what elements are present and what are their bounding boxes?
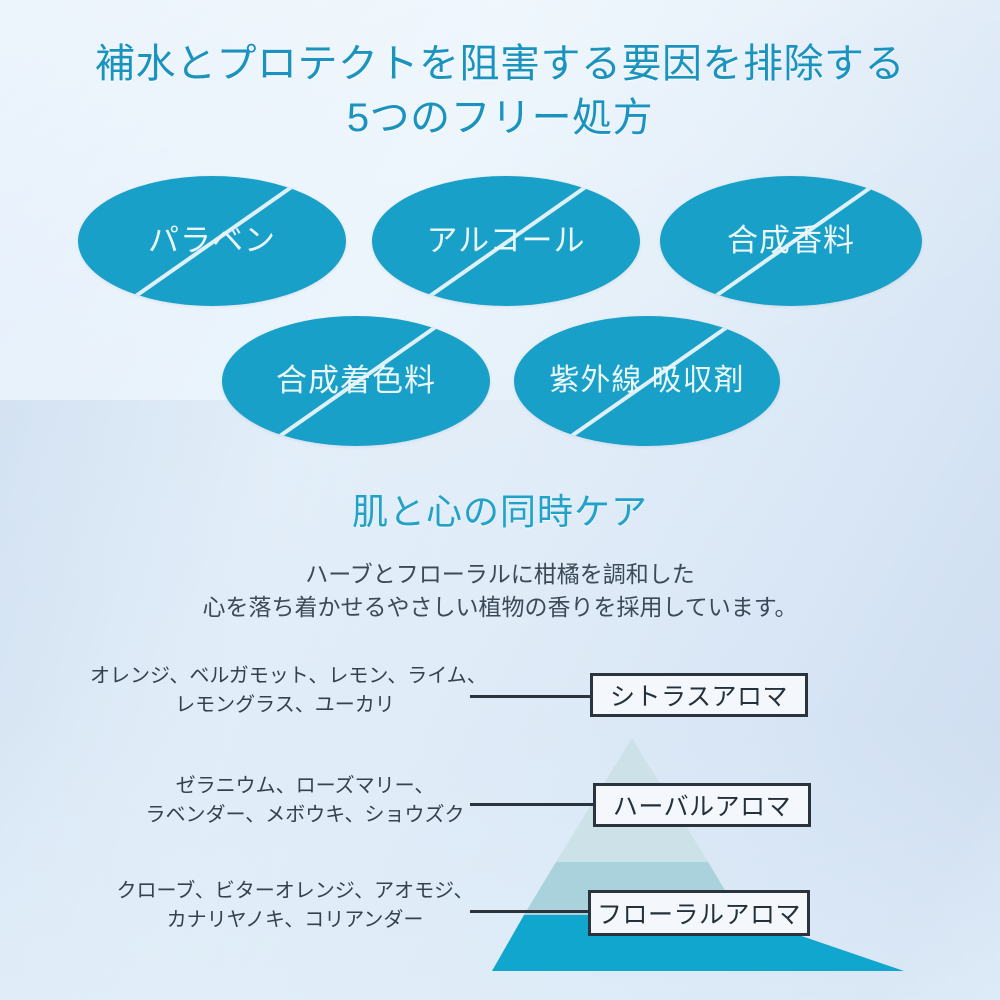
aroma-label-box-herbal: ハーバルアロマ — [593, 783, 811, 827]
aroma-label-text: フローラルアロマ — [597, 895, 801, 931]
aroma-label-box-citrus: シトラスアロマ — [590, 673, 808, 717]
connector-line-herbal — [470, 803, 595, 806]
aroma-pyramid-graphic-shape — [0, 0, 1000, 1000]
aroma-label-box-floral: フローラルアロマ — [588, 890, 810, 936]
aroma-label-text: シトラスアロマ — [610, 677, 788, 713]
connector-line-citrus — [470, 695, 592, 698]
connector-line-floral — [470, 910, 590, 913]
aroma-label-text: ハーバルアロマ — [613, 787, 791, 823]
infographic-canvas: 補水とプロテクトを阻害する要因を排除する 5つのフリー処方 パラベン アルコール… — [0, 0, 1000, 1000]
